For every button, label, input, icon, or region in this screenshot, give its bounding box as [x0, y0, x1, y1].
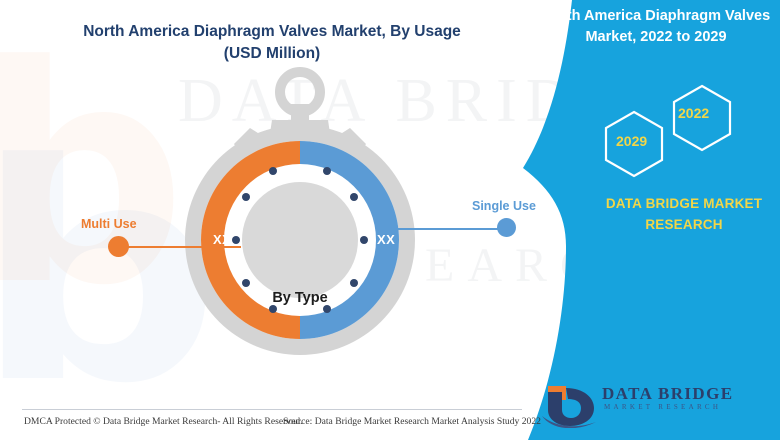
donut-center-label: By Type	[168, 290, 432, 306]
panel-brand-line2: RESEARCH	[588, 214, 780, 235]
segment-value-multi-use: XX	[213, 232, 231, 247]
callout-leader-single-use	[390, 228, 506, 230]
page-title-line1: North America Diaphragm Valves Market, B…	[62, 21, 482, 43]
panel-brand-text: DATA BRIDGE MARKET RESEARCH	[588, 193, 780, 235]
logo-mark-icon	[540, 382, 602, 428]
callout-leader-multi-use	[119, 246, 241, 248]
donut-chart: XX XX By Type	[168, 58, 432, 363]
panel-title-line2: Market, 2022 to 2029	[532, 27, 780, 48]
infographic-canvas: b b DATA BRIDGE RESEARCH North America D…	[0, 0, 780, 440]
callout-label-single-use: Single Use	[472, 199, 536, 213]
panel-brand-line1: DATA BRIDGE MARKET	[588, 193, 780, 214]
donut-center-disc	[242, 182, 358, 298]
segment-value-single-use: XX	[377, 232, 395, 247]
panel-title: North America Diaphragm Valves Market, 2…	[532, 6, 780, 48]
hexagon-label-2022: 2022	[678, 105, 709, 121]
hexagon-label-2029: 2029	[616, 133, 647, 149]
data-bridge-logo: DATA BRIDGE MARKET RESEARCH	[540, 382, 750, 428]
panel-title-line1: North America Diaphragm Valves	[532, 6, 780, 27]
callout-dot-single-use	[497, 218, 516, 237]
footer-divider	[22, 409, 522, 410]
callout-label-multi-use: Multi Use	[81, 217, 137, 231]
callout-dot-multi-use	[108, 236, 129, 257]
logo-name-secondary: MARKET RESEARCH	[604, 403, 721, 411]
footer-copyright: DMCA Protected © Data Bridge Market Rese…	[24, 416, 303, 427]
footer-source: Source: Data Bridge Market Research Mark…	[283, 416, 541, 427]
logo-name-primary: DATA BRIDGE	[602, 384, 733, 404]
